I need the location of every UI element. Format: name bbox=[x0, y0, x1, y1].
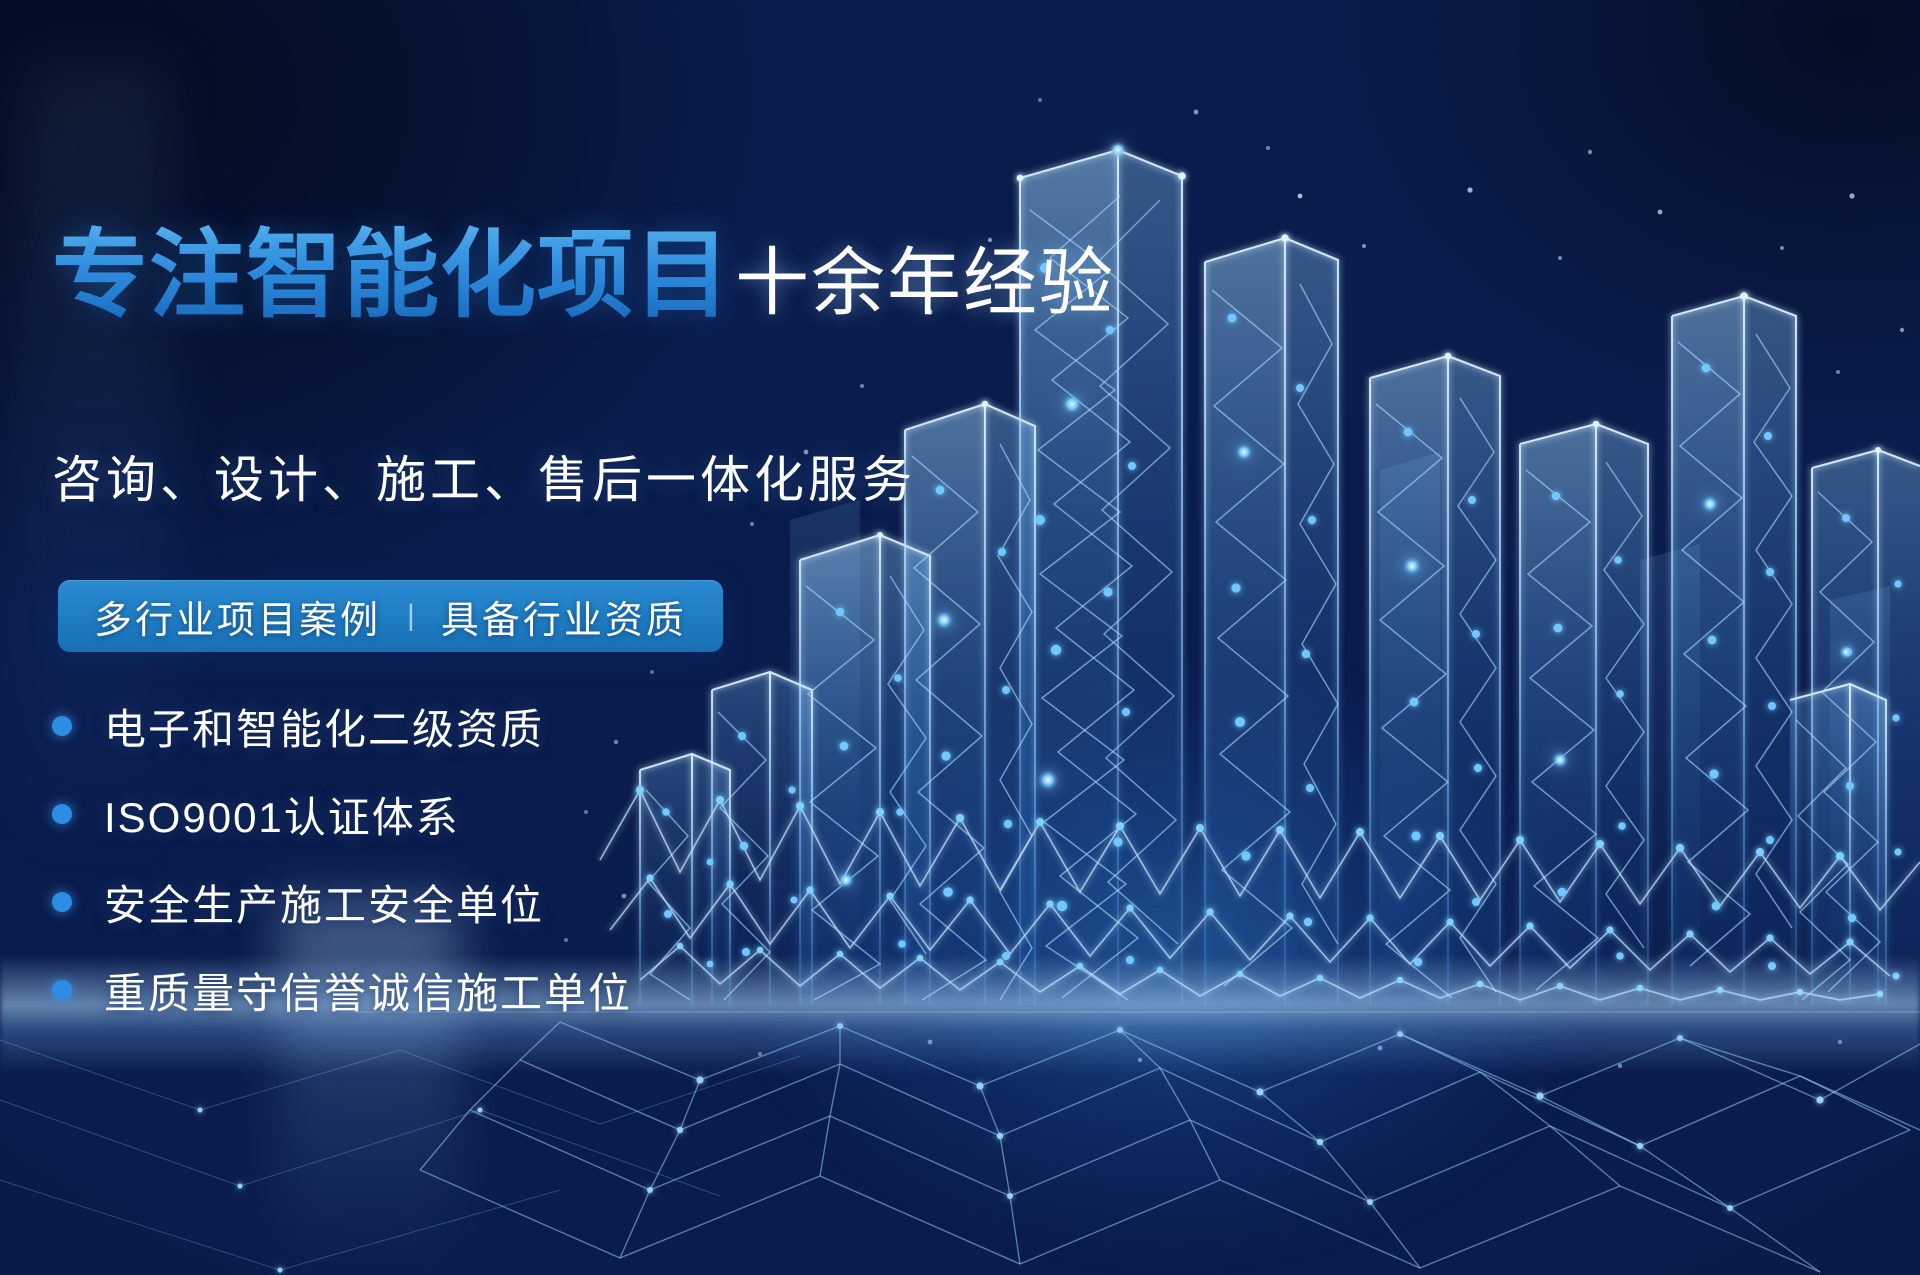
subtitle: 咨询、设计、施工、售后一体化服务 bbox=[52, 440, 916, 512]
badge-right-label: 具备行业资质 bbox=[441, 589, 687, 644]
bullet-label: 安全生产施工安全单位 bbox=[104, 872, 544, 933]
banner-content: 专注智能化项目十余年经验 咨询、设计、施工、售后一体化服务 多行业项目案例 | … bbox=[0, 0, 1100, 1275]
headline: 专注智能化项目十余年经验 bbox=[52, 228, 1115, 324]
headline-white-text: 十余年经验 bbox=[735, 241, 1115, 324]
banner-stage: 专注智能化项目十余年经验 咨询、设计、施工、售后一体化服务 多行业项目案例 | … bbox=[0, 0, 1920, 1275]
badge-left-label: 多行业项目案例 bbox=[94, 589, 381, 644]
headline-accent-text: 专注智能化项目 bbox=[52, 222, 731, 329]
list-item: 安全生产施工安全单位 bbox=[52, 868, 632, 936]
badge-separator: | bbox=[407, 599, 415, 633]
bullet-dot-icon bbox=[52, 892, 72, 912]
list-item: 电子和智能化二级资质 bbox=[52, 692, 632, 760]
list-item: 重质量守信誉诚信施工单位 bbox=[52, 956, 632, 1024]
bullet-dot-icon bbox=[52, 980, 72, 1000]
bullet-dot-icon bbox=[52, 716, 72, 736]
qualification-badge[interactable]: 多行业项目案例 | 具备行业资质 bbox=[58, 580, 723, 652]
bullet-label: ISO9001认证体系 bbox=[104, 784, 460, 845]
bullet-dot-icon bbox=[52, 804, 72, 824]
bullet-list: 电子和智能化二级资质 ISO9001认证体系 安全生产施工安全单位 重质量守信誉… bbox=[52, 692, 632, 1044]
bullet-label: 重质量守信誉诚信施工单位 bbox=[104, 960, 632, 1021]
bullet-label: 电子和智能化二级资质 bbox=[104, 696, 544, 757]
list-item: ISO9001认证体系 bbox=[52, 780, 632, 848]
